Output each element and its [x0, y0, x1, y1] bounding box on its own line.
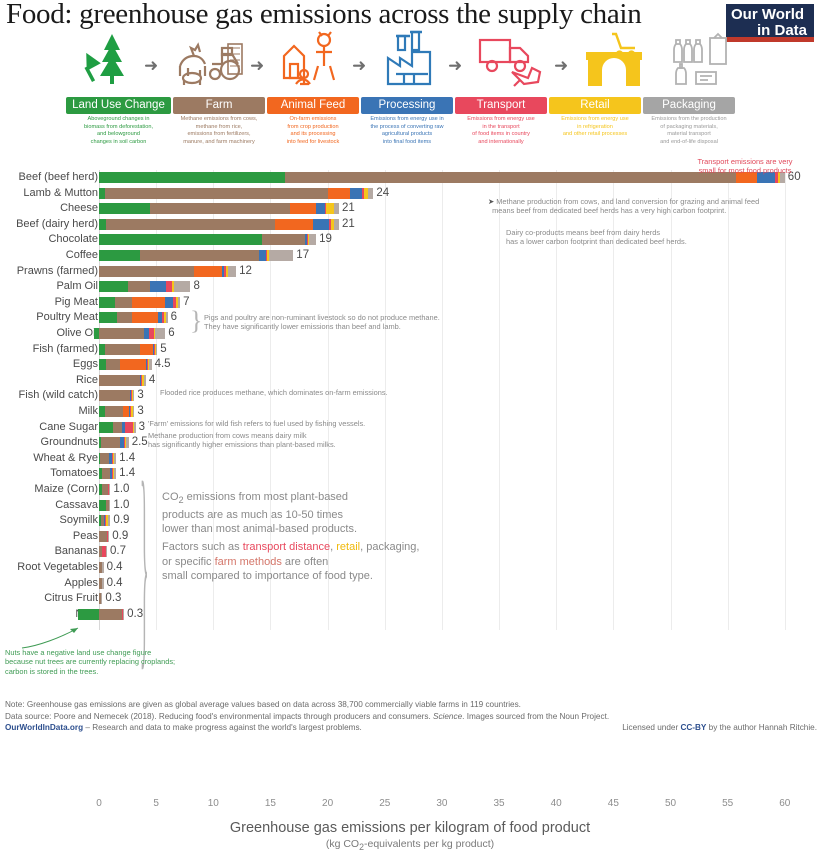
legend-desc-1: Methane emissions from cows,methane from… [169, 116, 269, 146]
x-tick-0: 0 [86, 798, 112, 809]
legend-label-2: Animal Feed [281, 99, 346, 111]
bar-segment-packaging[interactable] [106, 546, 107, 557]
bar-segment-animal-feed[interactable] [132, 297, 165, 308]
bar-value-label: 4.5 [155, 357, 171, 373]
legend-chip-land-use-change[interactable]: Land Use Change [66, 97, 171, 114]
legend-label-5: Retail [580, 99, 609, 111]
chart-row[interactable]: Pig Meat7 [0, 295, 820, 311]
chart-row[interactable]: Rice4 [0, 373, 820, 389]
footer: Note: Greenhouse gas emissions are given… [5, 699, 817, 734]
x-tick-45: 45 [600, 798, 626, 809]
annotation-factors-note: Factors such as transport distance, reta… [162, 540, 442, 584]
legend-chip-processing[interactable]: Processing [361, 97, 453, 114]
bar-segment-animal-feed[interactable] [132, 312, 158, 323]
bar-value-label: 3 [137, 404, 143, 420]
legend-desc-4: Emissions from energy usein the transpor… [451, 116, 551, 146]
x-axis-subtitle: (kg CO2-equivalents per kg product) [0, 838, 820, 852]
nuts-arrow-icon [20, 622, 86, 650]
arrow-3-icon: ➜ [352, 56, 366, 76]
factory-processing-icon [380, 30, 442, 88]
bar-segment-farm[interactable] [99, 609, 122, 620]
y-axis-label: Palm Oil [0, 279, 98, 295]
bar-segment-retail[interactable] [326, 203, 334, 214]
bar-segment-packaging[interactable] [114, 453, 116, 464]
bar-segment-packaging[interactable] [334, 219, 339, 230]
bar-value-label: 4 [149, 373, 155, 389]
chart-row[interactable]: Fish (wild catch)3 [0, 388, 820, 404]
chart-row[interactable]: Wheat & Rye1.4 [0, 451, 820, 467]
bar-value-label: 3 [137, 388, 143, 404]
bar-segment-land-use-change[interactable] [99, 219, 106, 230]
y-axis-label: Milk [0, 404, 98, 420]
chart-row[interactable]: Citrus Fruit0.3 [0, 591, 820, 607]
bar-value-label: 0.7 [110, 544, 126, 560]
bar-segment-processing[interactable] [150, 281, 166, 292]
bar-segment-packaging[interactable] [109, 500, 110, 511]
legend-chip-retail[interactable]: Retail [549, 97, 641, 114]
footer-note: Note: Greenhouse gas emissions are given… [5, 699, 817, 711]
bar-segment-farm[interactable] [99, 531, 107, 542]
bar-segment-farm[interactable] [106, 219, 275, 230]
legend-chip-farm[interactable]: Farm [173, 97, 265, 114]
x-tick-30: 30 [429, 798, 455, 809]
owid-link[interactable]: OurWorldInData.org [5, 723, 83, 732]
arrow-4-icon: ➜ [448, 56, 462, 76]
y-axis-label: Fish (farmed) [0, 342, 98, 358]
bar-segment-packaging[interactable] [133, 406, 134, 417]
y-axis-label: Cassava [0, 498, 98, 514]
bar-value-label: 17 [296, 248, 309, 264]
bar-value-label: 24 [376, 186, 389, 202]
bar-segment-land-use-change[interactable] [99, 281, 128, 292]
x-tick-10: 10 [200, 798, 226, 809]
x-axis: 051015202530354045505560 [0, 798, 820, 816]
bar-segment-packaging[interactable] [309, 234, 316, 245]
bar-segment-packaging[interactable] [174, 281, 190, 292]
legend: Land Use Change Aboveground changes inbi… [66, 97, 736, 155]
legend-desc-2: On-farm emissionsfrom crop productionand… [267, 116, 359, 146]
legend-chip-animal-feed[interactable]: Animal Feed [267, 97, 359, 114]
x-tick-55: 55 [715, 798, 741, 809]
y-axis-label: Bananas [0, 544, 98, 560]
bar-segment-farm[interactable] [262, 234, 304, 245]
bar-value-label: 1.0 [113, 498, 129, 514]
bar-segment-farm[interactable] [285, 172, 735, 183]
chart-row[interactable]: Groundnuts2.5 [0, 435, 820, 451]
bar-segment-packaging[interactable] [109, 484, 110, 495]
bar-segment-land-use-change[interactable] [99, 422, 113, 433]
bottles-packaging-icon [668, 30, 732, 88]
bar-segment-packaging[interactable] [144, 375, 146, 386]
bar-value-label: 1.4 [119, 466, 135, 482]
bar-segment-packaging[interactable] [108, 515, 110, 526]
bar-value-label: 0.3 [105, 591, 121, 607]
bar-segment-farm[interactable] [102, 468, 110, 479]
bar-segment-farm[interactable] [105, 188, 328, 199]
legend-desc-5: Emissions from energy usein refrigeratio… [545, 116, 645, 139]
bar-segment-farm[interactable] [99, 266, 194, 277]
bar-segment-animal-feed[interactable] [120, 359, 146, 370]
bar-segment-land-use-change[interactable] [99, 234, 262, 245]
annotation-plant-based-note: CO2 emissions from most plant-basedprodu… [162, 490, 422, 537]
bar-segment-land-use-change[interactable] [99, 297, 115, 308]
bar-segment-processing[interactable] [316, 203, 325, 214]
footer-source: Data source: Poore and Nemecek (2018). R… [5, 711, 817, 723]
x-tick-35: 35 [486, 798, 512, 809]
bar-segment-packaging[interactable] [269, 250, 293, 261]
bar-segment-land-use-change[interactable] [99, 359, 106, 370]
bar-segment-land-use-change[interactable] [78, 609, 99, 620]
bar-segment-packaging[interactable] [101, 593, 102, 604]
y-axis-label: Cheese [0, 201, 98, 217]
y-axis-label: Fish (wild catch) [0, 388, 98, 404]
y-axis-label: Chocolate [0, 232, 98, 248]
x-tick-20: 20 [315, 798, 341, 809]
x-axis-title: Greenhouse gas emissions per kilogram of… [0, 820, 820, 836]
arrow-5-icon: ➜ [554, 56, 568, 76]
y-axis-label: Apples [0, 576, 98, 592]
bar-segment-animal-feed[interactable] [140, 344, 153, 355]
y-axis-label: Lamb & Mutton [0, 186, 98, 202]
license-post: by the author Hannah Ritchie. [706, 723, 817, 732]
bar-segment-animal-feed[interactable] [194, 266, 223, 277]
y-axis-label: Beef (dairy herd) [0, 217, 98, 233]
y-axis-label: Tomatoes [0, 466, 98, 482]
bar-segment-packaging[interactable] [149, 359, 151, 370]
chart-row[interactable]: Palm Oil8 [0, 279, 820, 295]
bar-segment-packaging[interactable] [102, 578, 103, 589]
bar-value-label: 12 [239, 264, 252, 280]
bar-segment-farm[interactable] [105, 344, 140, 355]
footer-license: Licensed under CC-BY by the author Hanna… [622, 722, 817, 734]
legend-label-6: Packaging [662, 99, 716, 111]
bar-segment-packaging[interactable] [334, 203, 339, 214]
bar-segment-farm[interactable] [99, 328, 144, 339]
x-tick-60: 60 [772, 798, 798, 809]
bar-segment-packaging[interactable] [108, 531, 109, 542]
bar-segment-land-use-change[interactable] [99, 172, 285, 183]
y-axis-label: Wheat & Rye [0, 451, 98, 467]
bar-segment-land-use-change[interactable] [99, 312, 117, 323]
x-tick-50: 50 [658, 798, 684, 809]
bar-value-label: 21 [342, 201, 355, 217]
bar-segment-animal-feed[interactable] [328, 188, 351, 199]
annotation-nuts-note: Nuts have a negative land use change fig… [5, 648, 195, 676]
chart-row[interactable]: Prawns (farmed)12 [0, 264, 820, 280]
y-axis-label: Prawns (farmed) [0, 264, 98, 280]
bar-segment-land-use-change[interactable] [99, 203, 150, 214]
bar-segment-farm[interactable] [115, 297, 132, 308]
chart-row[interactable]: Milk3 [0, 404, 820, 420]
bar-segment-packaging[interactable] [166, 312, 167, 323]
annotation-pigs-poultry-note: Pigs and poultry are non-ruminant livest… [204, 313, 454, 332]
bar-segment-farm[interactable] [150, 203, 289, 214]
bar-segment-packaging[interactable] [228, 266, 236, 277]
x-tick-25: 25 [372, 798, 398, 809]
y-axis-label: Citrus Fruit [0, 591, 98, 607]
bar-value-label: 21 [342, 217, 355, 233]
bar-segment-farm[interactable] [140, 250, 259, 261]
footer-source-a: Data source: Poore and Nemecek (2018). R… [5, 712, 433, 721]
y-axis-label: Maize (Corn) [0, 482, 98, 498]
legend-chip-transport[interactable]: Transport [455, 97, 547, 114]
footer-source-journal: Science [433, 712, 462, 721]
arrow-2-icon: ➜ [250, 56, 264, 76]
chart-row[interactable]: Cane Sugar3 [0, 420, 820, 436]
bar-value-label: 5 [160, 342, 166, 358]
bar-segment-farm[interactable] [99, 390, 130, 401]
legend-chip-packaging[interactable]: Packaging [643, 97, 735, 114]
bar-segment-farm[interactable] [105, 406, 123, 417]
bar-value-label: 0.4 [107, 576, 123, 592]
farmer-poultry-feed-icon [278, 30, 344, 88]
annotation-rice-note: Flooded rice produces methane, which dom… [160, 388, 410, 397]
license-pre: Licensed under [622, 723, 680, 732]
y-axis-label: Peas [0, 529, 98, 545]
annotation-transport-note: Transport emissions are verysmall for mo… [680, 157, 810, 176]
bar-segment-packaging[interactable] [126, 437, 128, 448]
bar-segment-packaging[interactable] [155, 328, 165, 339]
bar-segment-packaging[interactable] [368, 188, 374, 199]
y-axis-label: Rice [0, 373, 98, 389]
bar-segment-transport[interactable] [125, 422, 133, 433]
annotation-dairy-note: Dairy co-products means beef from dairy … [506, 228, 806, 247]
owid-logo-line1: Our World [731, 6, 804, 23]
license-link[interactable]: CC-BY [680, 723, 706, 732]
legend-label-4: Transport [477, 99, 526, 111]
y-axis-label: Coffee [0, 248, 98, 264]
bar-value-label: 19 [319, 232, 332, 248]
bar-value-label: 6 [171, 310, 177, 326]
y-axis-label: Pig Meat [0, 295, 98, 311]
arrow-1-icon: ➜ [144, 56, 158, 76]
bar-segment-farm[interactable] [100, 453, 109, 464]
y-axis-label: Eggs [0, 357, 98, 373]
y-axis-label: Root Vegetables [0, 560, 98, 576]
bar-segment-farm[interactable] [101, 437, 119, 448]
bar-segment-packaging[interactable] [114, 468, 116, 479]
bar-value-label: 3 [139, 420, 145, 436]
bar-value-label: 0.9 [112, 529, 128, 545]
bar-segment-farm[interactable] [117, 312, 132, 323]
x-tick-40: 40 [543, 798, 569, 809]
legend-desc-3: Emissions from energy use inthe process … [357, 116, 457, 146]
bar-segment-packaging[interactable] [133, 390, 134, 401]
y-axis-label: Cane Sugar [0, 420, 98, 436]
bar-value-label: 0.4 [107, 560, 123, 576]
bar-segment-processing[interactable] [165, 297, 173, 308]
bar-segment-processing[interactable] [259, 250, 266, 261]
bar-value-label: 8 [193, 279, 199, 295]
bar-segment-processing[interactable] [350, 188, 361, 199]
emissions-chart: Beef (beef herd)60Lamb & Mutton24Cheese2… [0, 170, 820, 632]
infographic-root: Food: greenhouse gas emissions across th… [0, 0, 820, 737]
legend-label-1: Farm [206, 99, 233, 111]
bar-value-label: 6 [168, 326, 174, 342]
bar-segment-packaging[interactable] [156, 344, 157, 355]
bar-segment-packaging[interactable] [123, 609, 124, 620]
bar-value-label: 0.9 [113, 513, 129, 529]
bar-segment-packaging[interactable] [134, 422, 135, 433]
y-axis-label: Olive Oil [0, 326, 98, 342]
trees-deforestation-icon [78, 30, 138, 88]
x-tick-15: 15 [257, 798, 283, 809]
chart-row[interactable]: Eggs4.5 [0, 357, 820, 373]
bar-segment-farm[interactable] [128, 281, 151, 292]
y-axis-label: Beef (beef herd) [0, 170, 98, 186]
y-axis-label: Groundnuts [0, 435, 98, 451]
legend-label-3: Processing [379, 99, 436, 111]
legend-label-0: Land Use Change [72, 99, 165, 111]
bar-segment-animal-feed[interactable] [290, 203, 316, 214]
footer-tagline: – Research and data to make progress aga… [83, 723, 362, 732]
bar-segment-farm[interactable] [106, 359, 120, 370]
footer-source-c: . Images sourced from the Noun Project. [462, 712, 609, 721]
x-tick-5: 5 [143, 798, 169, 809]
tractor-cattle-farm-icon [172, 30, 244, 88]
bar-segment-farm[interactable] [99, 375, 140, 386]
bar-segment-land-use-change[interactable] [99, 250, 140, 261]
chart-row[interactable]: Nuts0.3 [0, 607, 820, 623]
chart-row[interactable]: Coffee17 [0, 248, 820, 264]
supply-chain-icon-strip: ➜ ➜ ➜ [60, 30, 760, 92]
bar-segment-land-use-change[interactable] [99, 500, 106, 511]
chart-row[interactable]: Tomatoes1.4 [0, 466, 820, 482]
annotation-beef-note: ➤ Methane production from cows, and land… [488, 197, 808, 216]
bar-segment-packaging[interactable] [178, 297, 180, 308]
brace-pigs-poultry: } [190, 306, 202, 336]
chart-row[interactable]: Fish (farmed)5 [0, 342, 820, 358]
bar-segment-animal-feed[interactable] [275, 219, 313, 230]
bar-value-label: 7 [183, 295, 189, 311]
annotation-milk-note: Methane production from cows means dairy… [148, 431, 398, 450]
shop-retail-icon [582, 30, 646, 88]
page-title: Food: greenhouse gas emissions across th… [6, 0, 706, 31]
annotation-wild-fish-note: 'Farm' emissions for wild fish refers to… [148, 419, 398, 428]
bar-segment-packaging[interactable] [102, 562, 103, 573]
bar-segment-processing[interactable] [313, 219, 329, 230]
legend-desc-0: Aboveground changes inbiomass from defor… [66, 116, 171, 146]
legend-desc-6: Emissions from the productionof packagin… [637, 116, 741, 146]
bar-value-label: 1.0 [113, 482, 129, 498]
bar-value-label: 1.4 [119, 451, 135, 467]
y-axis-label: Poultry Meat [0, 310, 98, 326]
truck-plane-transport-icon [476, 30, 546, 88]
y-axis-label: Soymilk [0, 513, 98, 529]
bar-segment-farm[interactable] [113, 422, 122, 433]
